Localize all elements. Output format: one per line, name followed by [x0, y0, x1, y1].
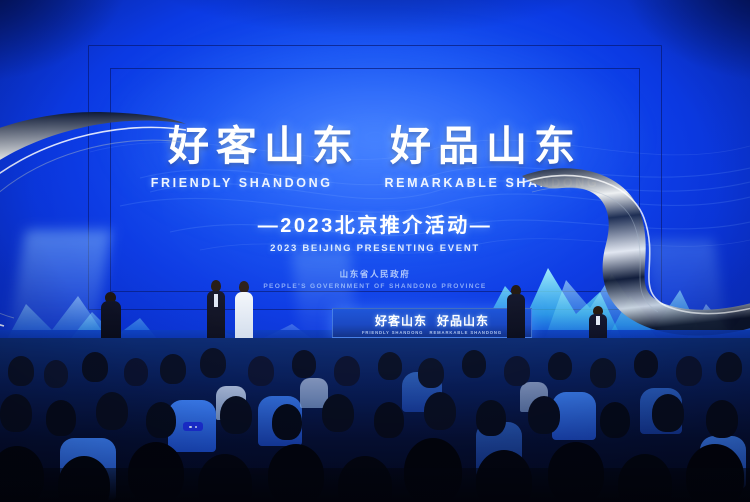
stage-banner-sign: 好客山东好品山东 FRIENDLY SHANDONG REMARKABLE SH… [332, 308, 532, 338]
audience-head [528, 396, 560, 434]
audience-head [44, 360, 68, 388]
stage-banner-english: FRIENDLY SHANDONG REMARKABLE SHANDONG [362, 330, 502, 335]
audience-head [322, 394, 354, 432]
stage-banner-chinese: 好客山东好品山东 [375, 312, 489, 329]
audience-head [220, 396, 252, 434]
audience-head [272, 404, 302, 440]
audience-shoulders-band [0, 468, 750, 502]
audience-head [8, 356, 34, 386]
audience-head [652, 394, 684, 432]
stage-banner-en-left: FRIENDLY SHANDONG [362, 330, 423, 335]
subtitle-english: 2023 BEIJING PRESENTING EVENT [0, 243, 750, 254]
audience-head [334, 356, 360, 386]
audience-head [160, 354, 186, 384]
headline-cn-left: 好客山东 [168, 122, 360, 170]
far-right-shirt [596, 316, 600, 325]
audience-head [504, 356, 530, 386]
host-male-shirt [214, 294, 218, 307]
event-photo-scene: 好客山东好品山东 FRIENDLY SHANDONG REMARKABLE SH… [0, 0, 750, 502]
headline-chinese: 好客山东好品山东 [0, 126, 750, 167]
headline-en-left: FRIENDLY SHANDONG [151, 176, 333, 190]
chair-logo-badge [183, 422, 203, 431]
audience-head [600, 402, 630, 438]
audience-head [46, 400, 76, 436]
organizer-chinese: 山东省人民政府 [0, 268, 750, 280]
screen-title-block: 好客山东好品山东 FRIENDLY SHANDONG REMARKABLE SH… [0, 126, 750, 290]
audience-head [462, 350, 486, 378]
audience-head [82, 352, 108, 382]
audience-head [676, 356, 702, 386]
audience-head [248, 356, 274, 386]
audience-head [418, 358, 444, 388]
audience-head [716, 352, 742, 382]
audience-head [378, 352, 402, 380]
audience-head [96, 392, 128, 430]
stage-banner-cn-left: 好客山东 [375, 314, 427, 328]
stage-person-host-male [205, 280, 227, 346]
headline-en-right: REMARKABLE SHANDONG [385, 176, 600, 190]
audience-head [374, 402, 404, 438]
audience-head [146, 402, 176, 438]
audience-head [292, 350, 316, 378]
audience-head [424, 392, 456, 430]
stage-banner-en-right: REMARKABLE SHANDONG [430, 330, 502, 335]
headline-english-row: FRIENDLY SHANDONG REMARKABLE SHANDONG [0, 176, 750, 190]
audience-head [0, 394, 32, 432]
seated-audience [0, 338, 750, 502]
audience-head [706, 400, 738, 438]
audience-head [200, 348, 226, 378]
subtitle-chinese: —2023北京推介活动— [0, 209, 750, 238]
stage-banner-cn-right: 好品山东 [437, 314, 489, 328]
audience-head [124, 358, 148, 386]
audience-head [590, 358, 616, 388]
organizer-english: PEOPLE'S GOVERNMENT OF SHANDONG PROVINCE [0, 283, 750, 290]
stage-person-host-female [233, 281, 255, 346]
audience-head [548, 352, 572, 380]
headline-cn-right: 好品山东 [390, 122, 582, 170]
audience-head [476, 400, 506, 436]
audience-head [634, 350, 658, 378]
